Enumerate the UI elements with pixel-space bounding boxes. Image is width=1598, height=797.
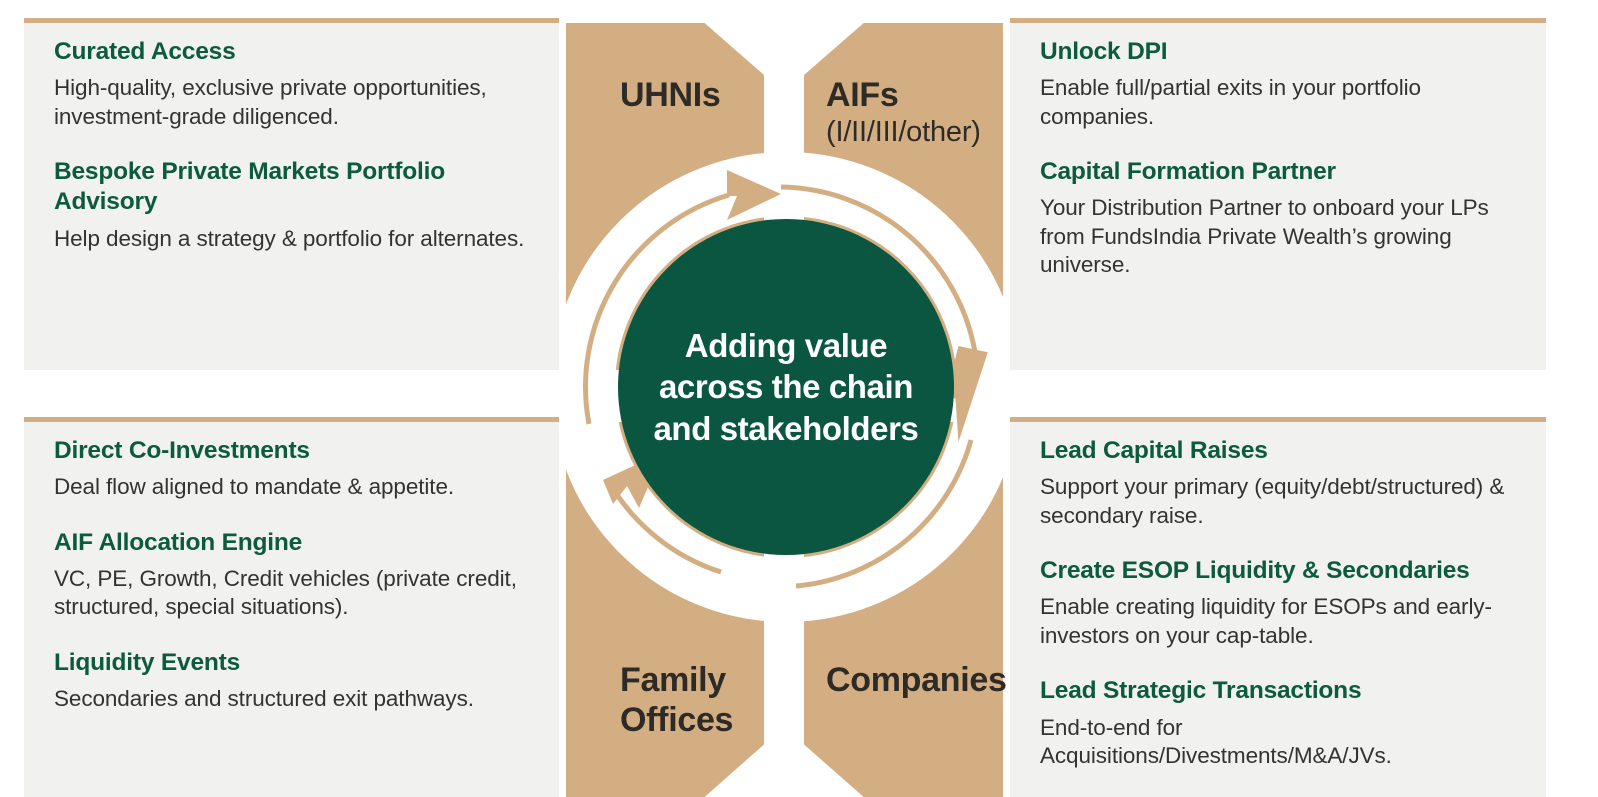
content-panel-bottom-right-body: Lead Capital Raises Support your primary… <box>1040 436 1520 770</box>
value-block-description: Secondaries and structured exit pathways… <box>54 685 533 713</box>
stakeholder-label-companies: Companies <box>826 622 1016 701</box>
stakeholder-label-family-offices: Family Offices <box>620 622 780 740</box>
content-panel-top-right: Unlock DPI Enable full/partial exits in … <box>1010 23 1546 370</box>
value-block: Curated Access High-quality, exclusive p… <box>54 37 533 131</box>
value-block-description: Enable full/partial exits in your portfo… <box>1040 74 1520 131</box>
value-block-description: Enable creating liquidity for ESOPs and … <box>1040 593 1520 650</box>
value-block: Lead Capital Raises Support your primary… <box>1040 436 1520 530</box>
value-block: Capital Formation Partner Your Distribut… <box>1040 157 1520 279</box>
value-block-title: Curated Access <box>54 37 533 67</box>
content-panel-top-left-body: Curated Access High-quality, exclusive p… <box>54 37 533 253</box>
value-block-title: Lead Strategic Transactions <box>1040 676 1520 706</box>
value-block: AIF Allocation Engine VC, PE, Growth, Cr… <box>54 528 533 622</box>
value-block-title: Capital Formation Partner <box>1040 157 1520 187</box>
value-block: Liquidity Events Secondaries and structu… <box>54 648 533 714</box>
value-block-title: Lead Capital Raises <box>1040 436 1520 466</box>
content-panel-bottom-left: Direct Co-Investments Deal flow aligned … <box>24 422 559 797</box>
content-panel-bottom-left-body: Direct Co-Investments Deal flow aligned … <box>54 436 533 714</box>
value-block-title: Direct Co-Investments <box>54 436 533 466</box>
value-block-description: Support your primary (equity/debt/struct… <box>1040 473 1520 530</box>
stakeholder-label-aifs-subtext: (I/II/III/other) <box>826 116 1016 150</box>
value-block: Lead Strategic Transactions End-to-end f… <box>1040 676 1520 770</box>
value-block-description: Help design a strategy & portfolio for a… <box>54 225 533 253</box>
value-block: Direct Co-Investments Deal flow aligned … <box>54 436 533 502</box>
value-block-description: Your Distribution Partner to onboard you… <box>1040 194 1520 279</box>
value-block: Unlock DPI Enable full/partial exits in … <box>1040 37 1520 131</box>
value-block: Bespoke Private Markets Portfolio Adviso… <box>54 157 533 253</box>
stakeholder-label-companies-text: Companies <box>826 661 1007 699</box>
value-block-title: AIF Allocation Engine <box>54 528 533 558</box>
content-panel-top-left: Curated Access High-quality, exclusive p… <box>24 23 559 370</box>
value-block-description: End-to-end for Acquisitions/Divestments/… <box>1040 714 1520 771</box>
value-block-description: Deal flow aligned to mandate & appetite. <box>54 473 533 501</box>
center-headline: Adding value across the chain and stakeh… <box>641 325 930 450</box>
value-block: Create ESOP Liquidity & Secondaries Enab… <box>1040 556 1520 650</box>
stakeholder-label-family-offices-text: Family Offices <box>620 661 733 738</box>
stakeholder-label-uhni: UHNIs <box>620 37 780 116</box>
infographic-canvas: UHNIs AIFs (I/II/III/other) Family Offic… <box>0 0 1598 797</box>
value-block-title: Unlock DPI <box>1040 37 1520 67</box>
content-panel-bottom-right: Lead Capital Raises Support your primary… <box>1010 422 1546 797</box>
stakeholder-label-aifs-text: AIFs <box>826 76 898 114</box>
value-block-description: High-quality, exclusive private opportun… <box>54 74 533 131</box>
center-circle: Adding value across the chain and stakeh… <box>618 219 954 555</box>
value-block-title: Create ESOP Liquidity & Secondaries <box>1040 556 1520 586</box>
value-block-description: VC, PE, Growth, Credit vehicles (private… <box>54 565 533 622</box>
stakeholder-label-uhni-text: UHNIs <box>620 76 721 114</box>
value-block-title: Bespoke Private Markets Portfolio Adviso… <box>54 157 533 218</box>
value-block-title: Liquidity Events <box>54 648 533 678</box>
content-panel-top-right-body: Unlock DPI Enable full/partial exits in … <box>1040 37 1520 279</box>
